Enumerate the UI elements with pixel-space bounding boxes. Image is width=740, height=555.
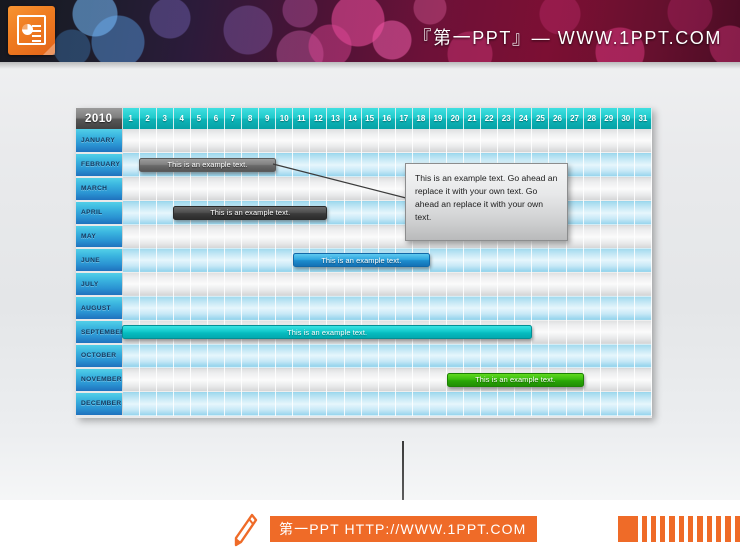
gantt-cell[interactable] (532, 272, 549, 296)
gantt-cell[interactable] (259, 248, 276, 272)
gantt-cell[interactable] (583, 344, 600, 368)
month-label-may[interactable]: MAY (76, 225, 122, 249)
gantt-cell[interactable] (600, 344, 617, 368)
gantt-cell[interactable] (276, 225, 293, 249)
gantt-cell[interactable] (583, 177, 600, 201)
gantt-cell[interactable] (583, 392, 600, 416)
gantt-month-row: OCTOBER (76, 344, 652, 368)
gantt-cell[interactable] (549, 296, 566, 320)
gantt-cell[interactable] (242, 296, 259, 320)
gantt-cell[interactable] (378, 201, 395, 225)
gantt-cell[interactable] (464, 296, 481, 320)
gantt-cell[interactable] (634, 225, 651, 249)
month-label-september[interactable]: SEPTEMBER (76, 320, 122, 344)
gantt-month-row: JANUARY (76, 129, 652, 153)
gantt-cell[interactable] (173, 392, 190, 416)
month-label-march[interactable]: MARCH (76, 177, 122, 201)
gantt-cell[interactable] (429, 392, 446, 416)
gantt-cell[interactable] (122, 344, 139, 368)
gantt-cell[interactable] (532, 296, 549, 320)
gantt-cell[interactable] (293, 225, 310, 249)
gantt-cell[interactable] (190, 296, 207, 320)
gantt-cell[interactable] (617, 201, 634, 225)
gantt-cell[interactable] (378, 296, 395, 320)
gantt-cell[interactable] (139, 344, 156, 368)
footer-stripe (688, 516, 693, 542)
gantt-cell[interactable] (327, 392, 344, 416)
gantt-cell[interactable] (207, 296, 224, 320)
gantt-cell[interactable] (156, 248, 173, 272)
gantt-cell[interactable] (634, 344, 651, 368)
gantt-cell[interactable] (617, 272, 634, 296)
gantt-cell[interactable] (293, 272, 310, 296)
gantt-cell[interactable] (327, 296, 344, 320)
gantt-cell[interactable] (224, 248, 241, 272)
gantt-cell[interactable] (532, 320, 549, 344)
gantt-cell[interactable] (429, 296, 446, 320)
gantt-cell[interactable] (139, 225, 156, 249)
gantt-cell[interactable] (310, 129, 327, 153)
gantt-cell[interactable] (190, 248, 207, 272)
gantt-cell[interactable] (361, 129, 378, 153)
gantt-cell[interactable] (583, 368, 600, 392)
gantt-cell[interactable] (464, 392, 481, 416)
gantt-cell[interactable] (156, 272, 173, 296)
gantt-cell[interactable] (583, 201, 600, 225)
month-label-january[interactable]: JANUARY (76, 129, 122, 153)
gantt-cell[interactable] (617, 320, 634, 344)
gantt-cell[interactable] (446, 296, 463, 320)
gantt-cell[interactable] (617, 177, 634, 201)
gantt-cell[interactable] (395, 344, 412, 368)
gantt-cell[interactable] (532, 129, 549, 153)
gantt-cell[interactable] (429, 272, 446, 296)
gantt-cell[interactable] (412, 392, 429, 416)
month-label-december[interactable]: DECEMBER (76, 392, 122, 416)
gantt-cell[interactable] (173, 296, 190, 320)
gantt-cell[interactable] (122, 296, 139, 320)
gantt-cell[interactable] (634, 272, 651, 296)
gantt-cell[interactable] (207, 225, 224, 249)
day-header-cell: 18 (412, 108, 429, 129)
gantt-cell[interactable] (532, 248, 549, 272)
gantt-cell[interactable] (224, 344, 241, 368)
gantt-cell[interactable] (242, 368, 259, 392)
day-header-cell: 13 (327, 108, 344, 129)
gantt-cell[interactable] (139, 392, 156, 416)
gantt-cell[interactable] (139, 248, 156, 272)
gantt-cell[interactable] (259, 296, 276, 320)
month-label-november[interactable]: NOVEMBER (76, 368, 122, 392)
gantt-cell[interactable] (549, 129, 566, 153)
pen-icon (232, 513, 258, 547)
gantt-cell[interactable] (412, 129, 429, 153)
month-label-october[interactable]: OCTOBER (76, 344, 122, 368)
day-header-cell: 26 (549, 108, 566, 129)
gantt-cell[interactable] (600, 368, 617, 392)
gantt-cell[interactable] (207, 248, 224, 272)
gantt-cell[interactable] (173, 248, 190, 272)
gantt-cell[interactable] (549, 272, 566, 296)
gantt-cell[interactable] (634, 296, 651, 320)
gantt-cell[interactable] (395, 129, 412, 153)
gantt-cell[interactable] (634, 368, 651, 392)
day-header-cell: 11 (293, 108, 310, 129)
gantt-cell[interactable] (446, 344, 463, 368)
gantt-cell[interactable] (498, 296, 515, 320)
year-header-cell: 2010 (76, 108, 122, 129)
gantt-cell[interactable] (566, 392, 583, 416)
gantt-cell[interactable] (276, 296, 293, 320)
gantt-cell[interactable] (583, 153, 600, 177)
gantt-cell[interactable] (446, 248, 463, 272)
gantt-cell[interactable] (122, 248, 139, 272)
gantt-cell[interactable] (617, 392, 634, 416)
gantt-cell[interactable] (242, 129, 259, 153)
day-header-cell: 25 (532, 108, 549, 129)
gantt-cell[interactable] (378, 368, 395, 392)
gantt-cell[interactable] (139, 201, 156, 225)
gantt-cell[interactable] (361, 368, 378, 392)
gantt-cell[interactable] (515, 272, 532, 296)
day-header-cell: 22 (481, 108, 498, 129)
gantt-cell[interactable] (122, 272, 139, 296)
gantt-cell[interactable] (481, 129, 498, 153)
gantt-cell[interactable] (242, 177, 259, 201)
gantt-cell[interactable] (156, 225, 173, 249)
gantt-cell[interactable] (156, 392, 173, 416)
month-label-april[interactable]: APRIL (76, 201, 122, 225)
month-label-august[interactable]: AUGUST (76, 296, 122, 320)
gantt-cell[interactable] (259, 344, 276, 368)
gantt-cell[interactable] (173, 368, 190, 392)
gantt-cell[interactable] (156, 344, 173, 368)
gantt-cell[interactable] (617, 248, 634, 272)
gantt-cell[interactable] (515, 248, 532, 272)
gantt-cell[interactable] (481, 272, 498, 296)
gantt-cell[interactable] (293, 392, 310, 416)
gantt-cell[interactable] (344, 296, 361, 320)
gantt-cell[interactable] (310, 344, 327, 368)
gantt-cell[interactable] (361, 201, 378, 225)
gantt-cell[interactable] (600, 153, 617, 177)
gantt-cell[interactable] (259, 392, 276, 416)
gantt-cell[interactable] (122, 129, 139, 153)
gantt-cell[interactable] (549, 344, 566, 368)
gantt-cell[interactable] (276, 344, 293, 368)
gantt-cell[interactable] (600, 296, 617, 320)
gantt-cell[interactable] (429, 344, 446, 368)
gantt-cell[interactable] (566, 153, 583, 177)
gantt-cell[interactable] (395, 392, 412, 416)
gantt-bar-april[interactable]: This is an example text. (173, 206, 327, 220)
gantt-cell[interactable] (310, 272, 327, 296)
gantt-cell[interactable] (173, 129, 190, 153)
gantt-cell[interactable] (310, 296, 327, 320)
gantt-cell[interactable] (327, 225, 344, 249)
gantt-cell[interactable] (173, 225, 190, 249)
footer-stripe (735, 516, 740, 542)
gantt-cell[interactable] (327, 344, 344, 368)
gantt-bar-september[interactable]: This is an example text. (122, 325, 532, 339)
gantt-cell[interactable] (634, 248, 651, 272)
gantt-cell[interactable] (224, 296, 241, 320)
gantt-cell[interactable] (600, 129, 617, 153)
gantt-cell[interactable] (361, 272, 378, 296)
gantt-cell[interactable] (395, 296, 412, 320)
gantt-cell[interactable] (139, 129, 156, 153)
gantt-cell[interactable] (327, 272, 344, 296)
gantt-cell[interactable] (327, 368, 344, 392)
gantt-cell[interactable] (600, 392, 617, 416)
gantt-cell[interactable] (481, 344, 498, 368)
gantt-cell[interactable] (361, 296, 378, 320)
gantt-cell[interactable] (139, 272, 156, 296)
gantt-cell[interactable] (293, 344, 310, 368)
gantt-cell[interactable] (583, 272, 600, 296)
gantt-cell[interactable] (207, 344, 224, 368)
gantt-cell[interactable] (361, 392, 378, 416)
gantt-bar-june[interactable]: This is an example text. (293, 253, 430, 267)
day-header-cell: 15 (361, 108, 378, 129)
gantt-cell[interactable] (429, 129, 446, 153)
gantt-cell[interactable] (583, 225, 600, 249)
gantt-cell[interactable] (481, 296, 498, 320)
gantt-cell[interactable] (583, 296, 600, 320)
gantt-cell[interactable] (634, 392, 651, 416)
gantt-cell[interactable] (634, 320, 651, 344)
month-label-february[interactable]: FEBRUARY (76, 153, 122, 177)
gantt-cell[interactable] (276, 129, 293, 153)
gantt-cell[interactable] (566, 272, 583, 296)
gantt-cell[interactable] (395, 272, 412, 296)
gantt-cell[interactable] (190, 129, 207, 153)
day-header-cell: 1 (122, 108, 139, 129)
gantt-cell[interactable] (600, 201, 617, 225)
gantt-cell[interactable] (429, 368, 446, 392)
gantt-cell[interactable] (207, 272, 224, 296)
gantt-cell[interactable] (224, 272, 241, 296)
gantt-cell[interactable] (207, 177, 224, 201)
gantt-cell[interactable] (634, 129, 651, 153)
gantt-cell[interactable] (344, 225, 361, 249)
gantt-cell[interactable] (207, 368, 224, 392)
gantt-cell[interactable] (634, 177, 651, 201)
gantt-cell[interactable] (122, 392, 139, 416)
top-banner: 『第一PPT』— WWW.1PPT.COM (0, 0, 740, 62)
gantt-cell[interactable] (566, 201, 583, 225)
gantt-cell[interactable] (242, 225, 259, 249)
gantt-cell[interactable] (259, 272, 276, 296)
gantt-cell[interactable] (344, 129, 361, 153)
gantt-cell[interactable] (327, 201, 344, 225)
gantt-cell[interactable] (464, 272, 481, 296)
gantt-cell[interactable] (207, 392, 224, 416)
gantt-cell[interactable] (190, 392, 207, 416)
gantt-cell[interactable] (156, 177, 173, 201)
day-header-cell: 28 (583, 108, 600, 129)
gantt-cell[interactable] (224, 177, 241, 201)
gantt-cell[interactable] (464, 248, 481, 272)
gantt-cell[interactable] (344, 392, 361, 416)
day-header-cell: 6 (207, 108, 224, 129)
gantt-cell[interactable] (600, 272, 617, 296)
gantt-cell[interactable] (156, 296, 173, 320)
gantt-cell[interactable] (446, 272, 463, 296)
gantt-cell[interactable] (378, 129, 395, 153)
gantt-cell[interactable] (361, 344, 378, 368)
gantt-cell[interactable] (310, 392, 327, 416)
gantt-cell[interactable] (617, 344, 634, 368)
gantt-cell[interactable] (344, 344, 361, 368)
gantt-cell[interactable] (481, 248, 498, 272)
gantt-cell[interactable] (600, 248, 617, 272)
gantt-cell[interactable] (566, 248, 583, 272)
gantt-header-row: 2010 12345678910111213141516171819202122… (76, 108, 652, 129)
gantt-cell[interactable] (242, 248, 259, 272)
gantt-cell[interactable] (583, 129, 600, 153)
gantt-cell[interactable] (122, 153, 139, 177)
gantt-cell[interactable] (600, 177, 617, 201)
gantt-cell[interactable] (139, 368, 156, 392)
gantt-cell[interactable] (293, 296, 310, 320)
gantt-cell[interactable] (515, 129, 532, 153)
gantt-cell[interactable] (156, 201, 173, 225)
callout-textbox[interactable]: This is an example text. Go ahead an rep… (405, 163, 568, 241)
gantt-cell[interactable] (498, 392, 515, 416)
gantt-cell[interactable] (344, 368, 361, 392)
gantt-cell[interactable] (156, 129, 173, 153)
gantt-cell[interactable] (361, 225, 378, 249)
gantt-cell[interactable] (566, 344, 583, 368)
day-header-cell: 17 (395, 108, 412, 129)
gantt-bar-november[interactable]: This is an example text. (447, 373, 584, 387)
footer-stripe (679, 516, 684, 542)
gantt-cell[interactable] (549, 320, 566, 344)
gantt-cell[interactable] (173, 272, 190, 296)
gantt-cell[interactable] (122, 368, 139, 392)
gantt-cell[interactable] (446, 129, 463, 153)
gantt-cell[interactable] (395, 368, 412, 392)
month-label-july[interactable]: JULY (76, 272, 122, 296)
gantt-cell[interactable] (173, 344, 190, 368)
gantt-cell[interactable] (224, 129, 241, 153)
gantt-cell[interactable] (515, 344, 532, 368)
gantt-cell[interactable] (532, 344, 549, 368)
gantt-cell[interactable] (617, 296, 634, 320)
gantt-cell[interactable] (259, 225, 276, 249)
gantt-cell[interactable] (549, 392, 566, 416)
gantt-cell[interactable] (378, 392, 395, 416)
gantt-cell[interactable] (600, 320, 617, 344)
gantt-cell[interactable] (276, 272, 293, 296)
gantt-cell[interactable] (259, 129, 276, 153)
gantt-cell[interactable] (566, 320, 583, 344)
gantt-cell[interactable] (293, 368, 310, 392)
gantt-cell[interactable] (566, 129, 583, 153)
gantt-cell[interactable] (378, 225, 395, 249)
gantt-cell[interactable] (412, 296, 429, 320)
gantt-cell[interactable] (498, 129, 515, 153)
gantt-cell[interactable] (464, 129, 481, 153)
gantt-cell[interactable] (173, 177, 190, 201)
gantt-cell[interactable] (566, 296, 583, 320)
gantt-cell[interactable] (617, 153, 634, 177)
gantt-cell[interactable] (583, 320, 600, 344)
gantt-cell[interactable] (429, 248, 446, 272)
gantt-cell[interactable] (532, 392, 549, 416)
gantt-cell[interactable] (498, 248, 515, 272)
gantt-cell[interactable] (190, 177, 207, 201)
gantt-cell[interactable] (310, 368, 327, 392)
gantt-cell[interactable] (276, 248, 293, 272)
gantt-cell[interactable] (156, 368, 173, 392)
gantt-cell[interactable] (139, 177, 156, 201)
gantt-bar-february[interactable]: This is an example text. (139, 158, 276, 172)
gantt-cell[interactable] (617, 368, 634, 392)
gantt-cell[interactable] (515, 296, 532, 320)
gantt-cell[interactable] (276, 392, 293, 416)
gantt-cell[interactable] (378, 272, 395, 296)
gantt-cell[interactable] (224, 368, 241, 392)
gantt-cell[interactable] (190, 344, 207, 368)
gantt-cell[interactable] (293, 129, 310, 153)
gantt-cell[interactable] (259, 368, 276, 392)
day-header-cell: 21 (464, 108, 481, 129)
gantt-cell[interactable] (634, 153, 651, 177)
gantt-cell[interactable] (634, 201, 651, 225)
gantt-cell[interactable] (224, 225, 241, 249)
gantt-cell[interactable] (190, 272, 207, 296)
gantt-cell[interactable] (566, 225, 583, 249)
gantt-cell[interactable] (617, 225, 634, 249)
gantt-cell[interactable] (224, 392, 241, 416)
gantt-cell[interactable] (617, 129, 634, 153)
gantt-cell[interactable] (566, 177, 583, 201)
gantt-cell[interactable] (190, 225, 207, 249)
footer-url-plate: 第一PPT HTTP://WWW.1PPT.COM (270, 516, 537, 542)
gantt-cell[interactable] (327, 129, 344, 153)
gantt-cell[interactable] (122, 225, 139, 249)
gantt-cell[interactable] (481, 392, 498, 416)
gantt-cell[interactable] (242, 344, 259, 368)
gantt-cell[interactable] (276, 368, 293, 392)
gantt-cell[interactable] (412, 272, 429, 296)
gantt-cell[interactable] (515, 392, 532, 416)
gantt-cell[interactable] (412, 344, 429, 368)
gantt-cell[interactable] (122, 201, 139, 225)
gantt-cell[interactable] (412, 368, 429, 392)
gantt-cell[interactable] (242, 272, 259, 296)
gantt-cell[interactable] (498, 272, 515, 296)
gantt-cell[interactable] (207, 129, 224, 153)
gantt-cell[interactable] (583, 248, 600, 272)
gantt-cell[interactable] (242, 392, 259, 416)
gantt-cell[interactable] (344, 201, 361, 225)
gantt-cell[interactable] (498, 344, 515, 368)
gantt-cell[interactable] (446, 392, 463, 416)
gantt-cell[interactable] (310, 225, 327, 249)
month-label-june[interactable]: JUNE (76, 248, 122, 272)
gantt-cell[interactable] (464, 344, 481, 368)
gantt-cell[interactable] (549, 248, 566, 272)
gantt-cell[interactable] (190, 368, 207, 392)
gantt-cell[interactable] (344, 272, 361, 296)
gantt-cell[interactable] (122, 177, 139, 201)
gantt-cell[interactable] (378, 344, 395, 368)
gantt-cell[interactable] (139, 296, 156, 320)
gantt-cell[interactable] (600, 225, 617, 249)
